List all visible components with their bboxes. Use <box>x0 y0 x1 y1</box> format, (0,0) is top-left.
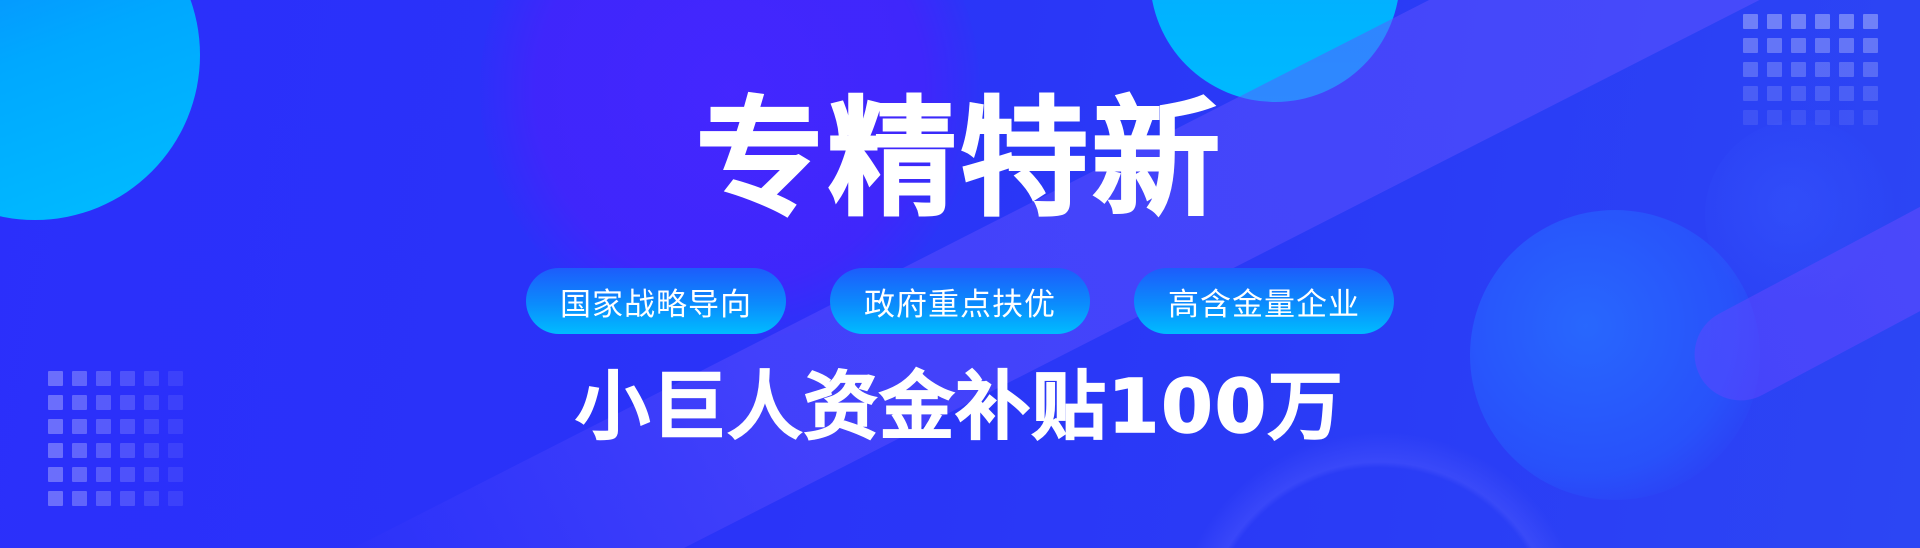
tag-pill-government-support[interactable]: 政府重点扶优 <box>830 268 1090 334</box>
promo-banner: 专精特新 国家战略导向 政府重点扶优 高含金量企业 小巨人资金补贴100万 <box>0 0 1920 548</box>
tag-list: 国家战略导向 政府重点扶优 高含金量企业 <box>526 268 1394 334</box>
page-title: 专精特新 <box>696 96 1224 224</box>
tag-pill-high-value-enterprise[interactable]: 高含金量企业 <box>1134 268 1394 334</box>
subsidy-headline: 小巨人资金补贴100万 <box>576 370 1344 444</box>
tag-pill-national-strategy[interactable]: 国家战略导向 <box>526 268 786 334</box>
banner-content: 专精特新 国家战略导向 政府重点扶优 高含金量企业 小巨人资金补贴100万 <box>0 0 1920 548</box>
